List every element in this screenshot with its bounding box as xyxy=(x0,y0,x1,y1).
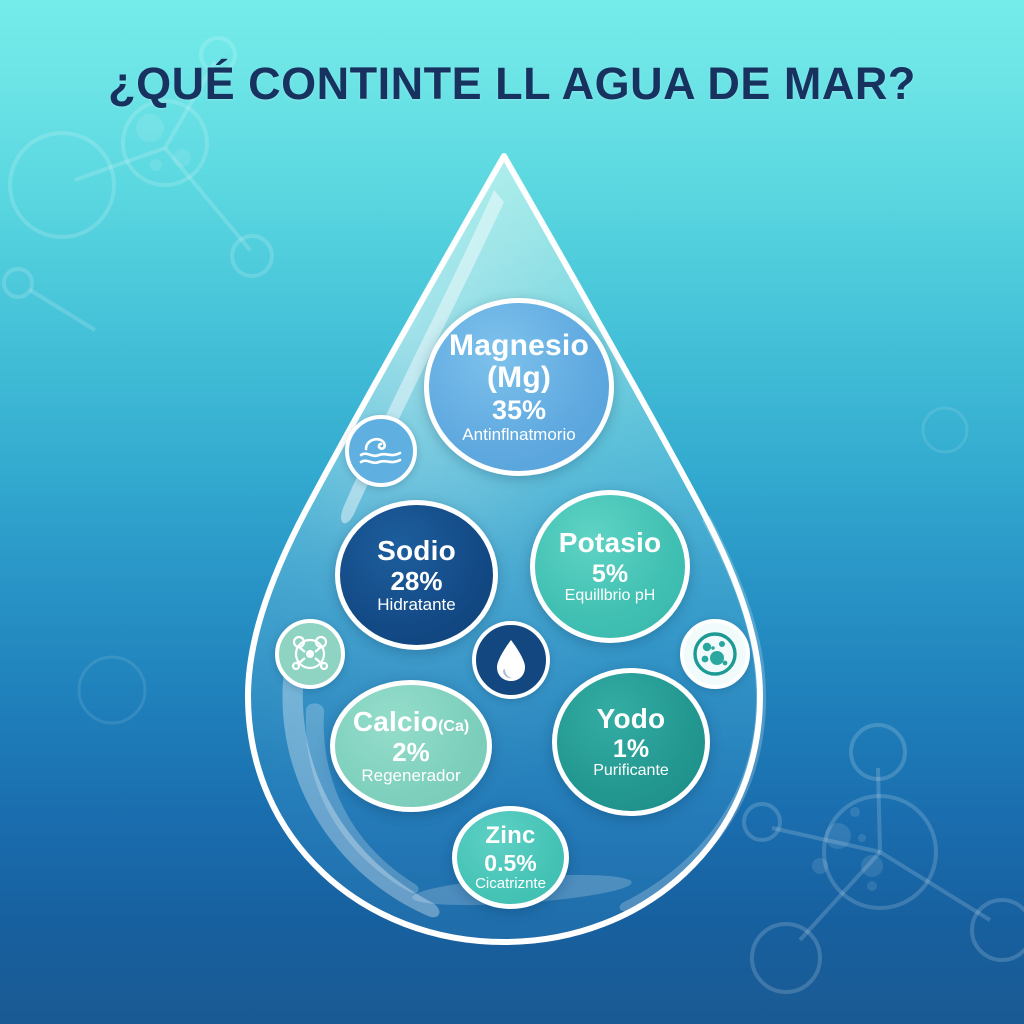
nutrient-percent-sodio: 28% xyxy=(390,568,442,595)
nutrient-benefit-potasio: Equillbrio pH xyxy=(565,588,656,605)
nutrient-bubble-magnesio[interactable]: Magnesio (Mg) 35% Antinflnatmorio xyxy=(424,298,614,476)
nutrient-benefit-zinc: Cicatriznte xyxy=(475,876,546,892)
page-title: ¿QUÉ CONTINTE LL AGUA DE MAR? xyxy=(0,58,1024,110)
nutrient-name-zinc: Zinc xyxy=(485,823,535,848)
water-droplet-icon-badge[interactable] xyxy=(472,621,550,699)
nutrient-percent-yodo: 1% xyxy=(613,736,649,762)
nutrient-name-sodio: Sodio xyxy=(377,536,456,565)
nutrient-name-calcio: Calcio xyxy=(353,706,438,737)
nutrient-percent-calcio: 2% xyxy=(392,739,430,766)
water-droplet-icon xyxy=(491,636,531,684)
nutrient-bubble-calcio[interactable]: Calcio(Ca) 2% Regenerador xyxy=(330,680,492,812)
nutrient-percent-magnesio: 35% xyxy=(492,396,546,424)
nutrient-bubble-yodo[interactable]: Yodo 1% Purificante xyxy=(552,668,710,816)
nutrient-name-magnesio: Magnesio xyxy=(449,330,589,362)
petri-dish-icon xyxy=(691,630,739,678)
nutrient-name-yodo: Yodo xyxy=(597,704,666,733)
petri-dish-icon-badge[interactable] xyxy=(680,619,750,689)
nutrient-percent-potasio: 5% xyxy=(592,561,628,587)
nutrient-benefit-calcio: Regenerador xyxy=(361,767,460,785)
nutrient-bubble-zinc[interactable]: Zinc 0.5% Cicatriznte xyxy=(452,806,569,909)
molecule-atom-icon xyxy=(287,631,333,677)
nutrient-benefit-yodo: Purificante xyxy=(593,763,669,780)
nutrient-bubble-potasio[interactable]: Potasio 5% Equillbrio pH xyxy=(530,490,690,643)
nutrient-benefit-magnesio: Antinflnatmorio xyxy=(462,426,575,444)
wave-icon-badge[interactable] xyxy=(345,415,417,487)
nutrient-symbol-calcio: (Ca) xyxy=(438,718,469,735)
wave-icon xyxy=(358,431,404,471)
seawater-composition-infographic: ¿QUÉ CONTINTE LL AGUA DE MAR? xyxy=(0,0,1024,1024)
nutrient-bubble-sodio[interactable]: Sodio 28% Hidratante xyxy=(335,500,498,650)
nutrient-benefit-sodio: Hidratante xyxy=(377,596,455,614)
nutrient-name-row-calcio: Calcio(Ca) xyxy=(353,707,469,736)
molecule-atom-icon-badge[interactable] xyxy=(275,619,345,689)
nutrient-name-potasio: Potasio xyxy=(559,528,662,557)
nutrient-percent-zinc: 0.5% xyxy=(484,851,536,875)
nutrient-symbol-magnesio: (Mg) xyxy=(487,362,551,394)
